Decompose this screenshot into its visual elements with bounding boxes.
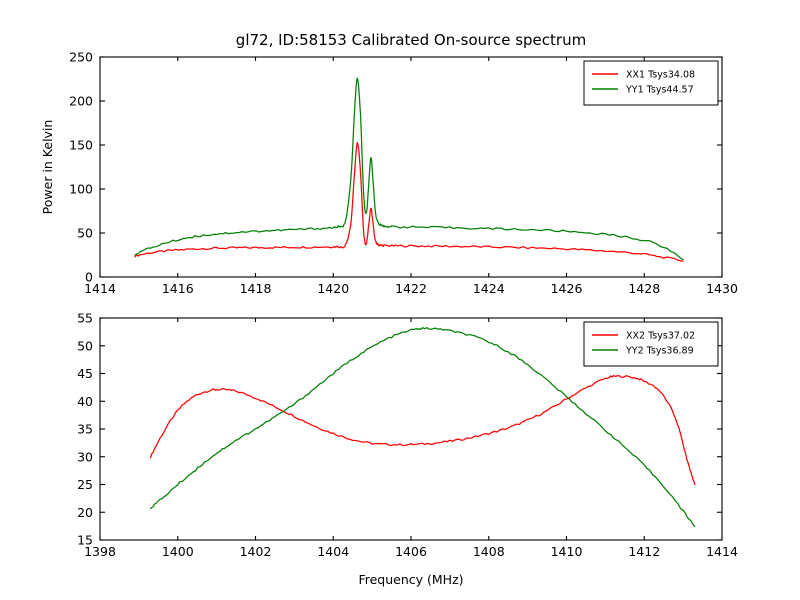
y-axis-label: Power in Kelvin	[40, 120, 55, 215]
trace-xx2	[151, 376, 695, 485]
x-tick-label: 1418	[240, 281, 272, 296]
x-tick-label: 1422	[395, 281, 427, 296]
y-tick-label: 20	[77, 505, 93, 520]
y-tick-label: 50	[77, 226, 93, 241]
spectrum-plot-canvas: gl72, ID:58153 Calibrated On-source spec…	[0, 0, 800, 600]
legend-frame	[584, 61, 718, 105]
x-tick-label: 1408	[473, 544, 505, 559]
y-tick-label: 15	[77, 533, 93, 548]
axes-lower-spectrum-panel: 1398140014021404140614081410141214141520…	[77, 311, 738, 588]
y-tick-label: 150	[69, 138, 93, 153]
y-tick-label: 200	[69, 94, 93, 109]
x-tick-label: 1414	[706, 544, 738, 559]
x-tick-label: 1402	[240, 544, 272, 559]
legend-label: XX1 Tsys34.08	[626, 70, 695, 81]
x-tick-label: 1404	[317, 544, 349, 559]
x-tick-label: 1420	[317, 281, 349, 296]
x-tick-label: 1430	[706, 281, 738, 296]
y-tick-label: 100	[69, 182, 93, 197]
legend-upper-spectrum-panel[interactable]: XX1 Tsys34.08YY1 Tsys44.57	[584, 61, 718, 105]
y-tick-label: 55	[77, 311, 93, 326]
matplotlib-figure: gl72, ID:58153 Calibrated On-source spec…	[0, 0, 800, 600]
legend-label: YY2 Tsys36.89	[625, 346, 694, 357]
x-tick-label: 1400	[162, 544, 194, 559]
chart-title: gl72, ID:58153 Calibrated On-source spec…	[236, 31, 586, 49]
trace-xx1	[135, 142, 683, 261]
x-tick-label: 1424	[473, 281, 505, 296]
x-tick-label: 1412	[628, 544, 660, 559]
x-axis-label: Frequency (MHz)	[358, 572, 463, 587]
x-tick-label: 1426	[551, 281, 583, 296]
y-tick-label: 50	[77, 338, 93, 353]
y-tick-label: 25	[77, 477, 93, 492]
legend-label: XX2 Tsys37.02	[626, 331, 695, 342]
x-tick-label: 1416	[162, 281, 194, 296]
legend-lower-spectrum-panel[interactable]: XX2 Tsys37.02YY2 Tsys36.89	[584, 322, 718, 366]
y-tick-label: 30	[77, 449, 93, 464]
legend-frame	[584, 322, 718, 366]
y-tick-label: 40	[77, 394, 93, 409]
x-tick-label: 1428	[628, 281, 660, 296]
y-tick-label: 45	[77, 366, 93, 381]
y-tick-label: 250	[69, 50, 93, 65]
legend-label: YY1 Tsys44.57	[625, 85, 694, 96]
x-tick-label: 1406	[395, 544, 427, 559]
x-tick-label: 1410	[551, 544, 583, 559]
y-tick-label: 0	[85, 270, 93, 285]
y-tick-label: 35	[77, 422, 93, 437]
axes-upper-spectrum-panel: 1414141614181420142214241426142814300501…	[40, 50, 738, 297]
